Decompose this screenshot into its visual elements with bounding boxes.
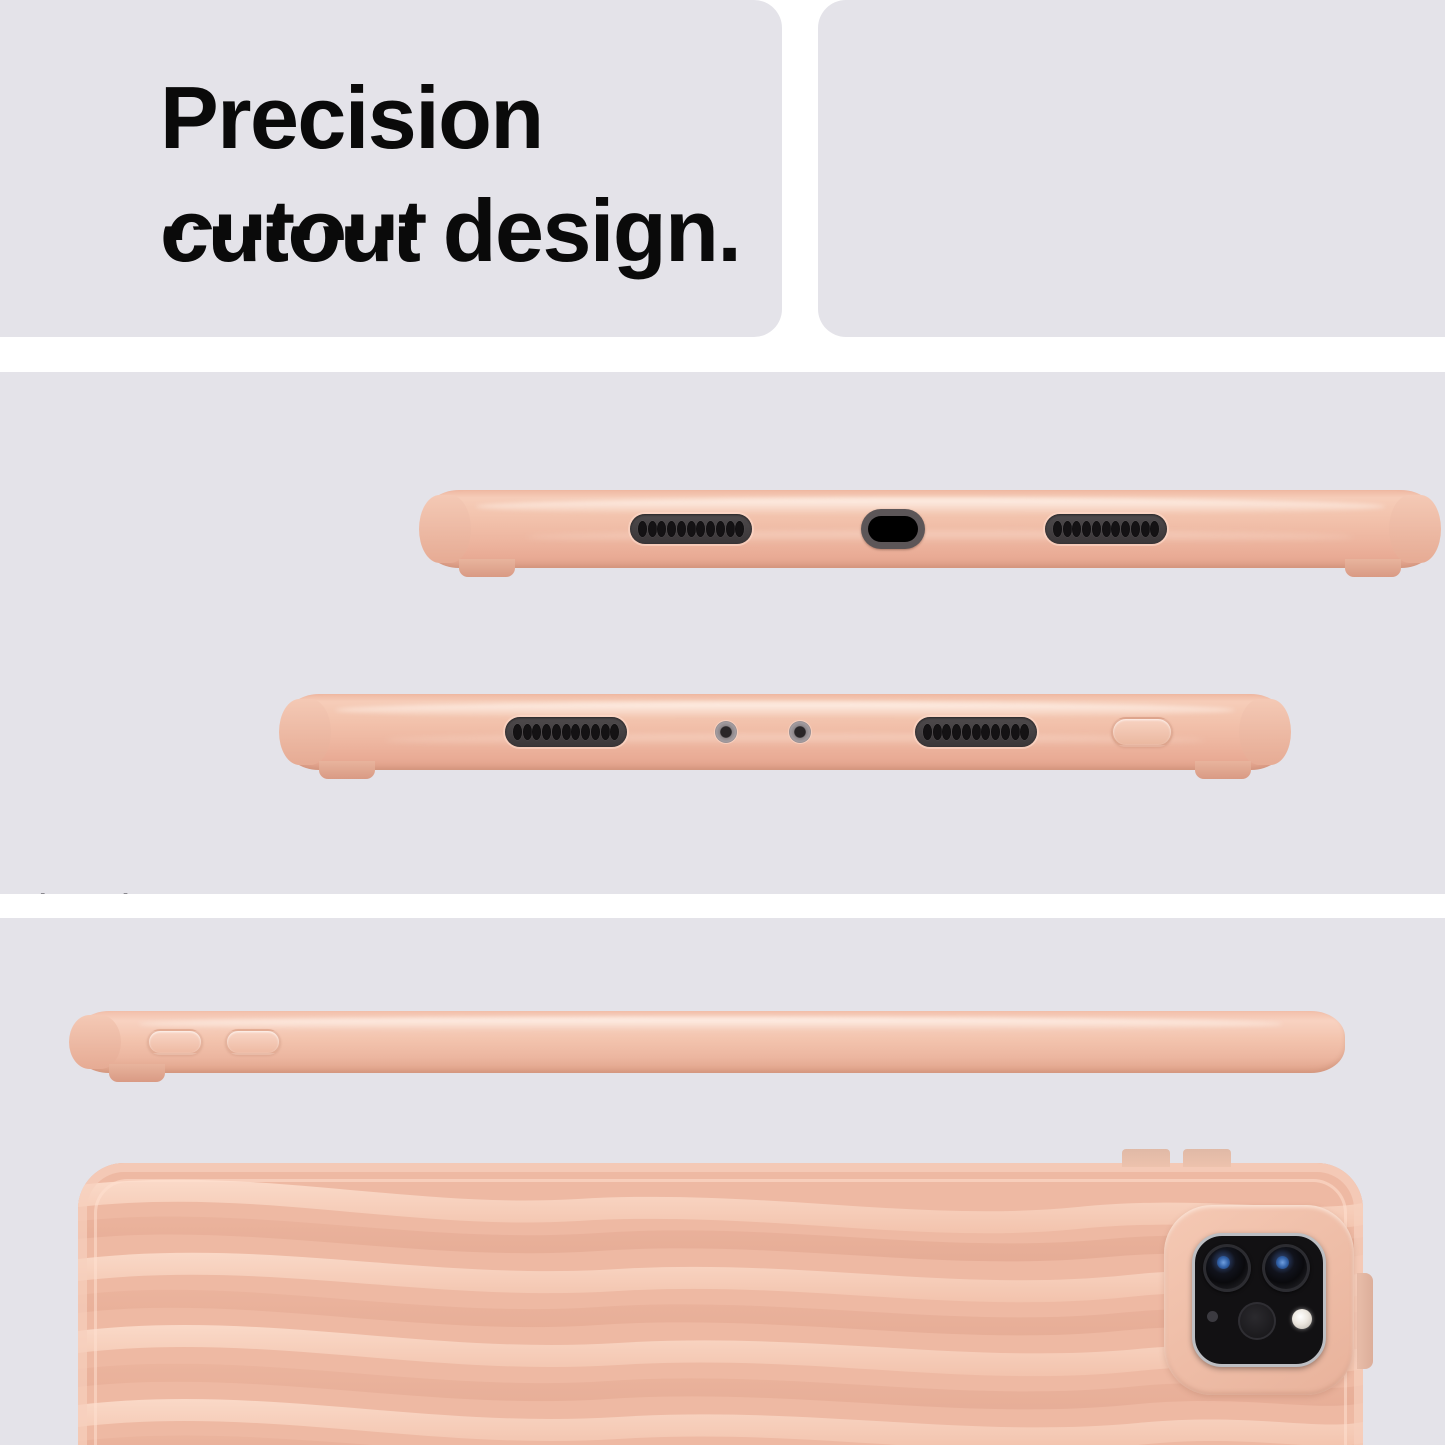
edge-corner-foot-right bbox=[1195, 761, 1251, 779]
edge-cap-right bbox=[1389, 495, 1441, 564]
tablet-edge-view-side-buttons bbox=[75, 1011, 1345, 1073]
usb-c-port-opening bbox=[868, 516, 918, 542]
side-button-icon bbox=[1357, 1273, 1373, 1369]
headline-panel: Precision cutoutcutoutcutout design. bbox=[0, 0, 782, 337]
edge-corner-foot-right bbox=[1345, 559, 1401, 577]
headline-line-2: cutoutcutoutcutout design. bbox=[160, 175, 780, 288]
edge-gloss-highlight bbox=[335, 702, 1235, 719]
touch-id-button-icon bbox=[1111, 717, 1173, 747]
edge-gloss-highlight bbox=[139, 1017, 1282, 1031]
camera-flash-icon bbox=[1292, 1309, 1312, 1329]
autofocus-sensor-icon bbox=[1207, 1311, 1218, 1322]
product-feature-image: Precision cutoutcutoutcutout design. Pre… bbox=[0, 0, 1445, 1445]
top-button-nub bbox=[1122, 1149, 1170, 1167]
usb-c-port-icon bbox=[861, 509, 925, 549]
speaker-grille-icon bbox=[915, 717, 1037, 747]
top-button-nub bbox=[1183, 1149, 1231, 1167]
edge-gloss-highlight bbox=[476, 498, 1385, 515]
label-charging-port: Charging port bbox=[8, 886, 259, 894]
edge-corner-foot-left bbox=[109, 1064, 165, 1082]
speaker-grille-icon bbox=[630, 514, 752, 544]
tablet-edge-view-touch-id bbox=[285, 694, 1285, 770]
edge-corner-foot-left bbox=[319, 761, 375, 779]
camera-lens-icon bbox=[1262, 1244, 1310, 1292]
edge-corner-foot-left bbox=[459, 559, 515, 577]
speaker-grille-icon bbox=[1045, 514, 1167, 544]
microphone-icon bbox=[715, 721, 737, 743]
subtext-panel: Precise cutouts enable easy accessibilit… bbox=[818, 0, 1445, 337]
edge-cap-left bbox=[69, 1015, 121, 1070]
volume-button-icon bbox=[147, 1029, 203, 1055]
microphone-icon bbox=[789, 721, 811, 743]
tablet-edge-view-charging-port bbox=[425, 490, 1435, 568]
cutout-sliced-word: cutoutcutoutcutout bbox=[160, 175, 420, 288]
page-title: Precision cutoutcutoutcutout design. bbox=[160, 62, 780, 287]
edge-cap-left bbox=[419, 495, 471, 564]
volume-button-icon bbox=[225, 1029, 281, 1055]
speaker-grille-icon bbox=[505, 717, 627, 747]
headline-line-1: Precision bbox=[160, 62, 780, 175]
cutout-detail-panel: Charging port Touch ID bbox=[0, 372, 1445, 894]
edge-cap-right bbox=[1239, 699, 1291, 766]
lidar-sensor-icon bbox=[1238, 1302, 1276, 1340]
headline-line-2-rest: design. bbox=[420, 181, 741, 280]
camera-lens-icon bbox=[1203, 1244, 1251, 1292]
edge-cap-left bbox=[279, 699, 331, 766]
